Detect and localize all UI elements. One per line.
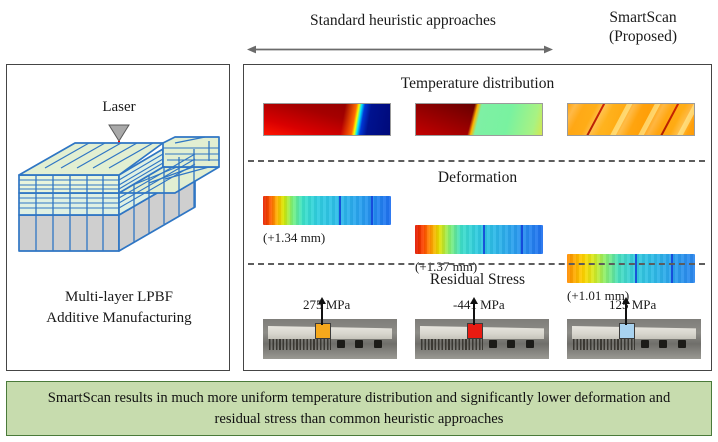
specimen-hole bbox=[659, 340, 667, 348]
summary-caption-box: SmartScan results in much more uniform t… bbox=[6, 381, 712, 436]
specimen-support-teeth bbox=[573, 339, 635, 350]
lpbf-caption-line2: Additive Manufacturing bbox=[7, 308, 231, 329]
temperature-field-image-1 bbox=[263, 103, 391, 136]
header-smartscan-label: SmartScan (Proposed) bbox=[572, 8, 714, 46]
temperature-cell-smartscan bbox=[567, 103, 695, 136]
figure-header: Standard heuristic approaches SmartScan … bbox=[0, 0, 718, 58]
header-smartscan-line1: SmartScan bbox=[572, 8, 714, 27]
deformation-seam-line bbox=[371, 196, 373, 225]
residual-stress-value-3: 125 MPa bbox=[609, 297, 656, 313]
specimen-photo-2 bbox=[415, 319, 549, 359]
residual-stress-value-2: -441 MPa bbox=[453, 297, 505, 313]
specimen-photo-wrap-2: -441 MPa bbox=[415, 297, 549, 359]
double-headed-arrow-icon bbox=[247, 44, 553, 55]
scan-streak bbox=[580, 103, 611, 136]
temperature-row-title-wrap: Temperature distribution bbox=[244, 75, 711, 93]
residual-stress-row-strips: 275 MPa -441 MPa bbox=[244, 297, 711, 367]
specimen-support-teeth bbox=[421, 339, 483, 350]
header-smartscan-line2: (Proposed) bbox=[572, 27, 714, 46]
specimen-photo-wrap-1: 275 MPa bbox=[263, 297, 397, 359]
temperature-row-title: Temperature distribution bbox=[244, 75, 711, 93]
deformation-seam-line bbox=[483, 225, 485, 254]
specimen-hole bbox=[337, 340, 345, 348]
temperature-cell-heuristic-1 bbox=[263, 103, 391, 136]
residual-stress-row-title: Residual Stress bbox=[244, 271, 711, 289]
stress-indicator-square-1 bbox=[315, 323, 331, 339]
scan-streak-light bbox=[604, 103, 638, 136]
scan-streak-light bbox=[632, 103, 666, 136]
specimen-photo-wrap-3: 125 MPa bbox=[567, 297, 701, 359]
temperature-row-strips bbox=[244, 103, 711, 163]
row-divider-1 bbox=[248, 160, 705, 162]
stress-arrow-icon-2 bbox=[473, 303, 475, 325]
residual-stress-value-1: 275 MPa bbox=[303, 297, 350, 313]
stress-indicator-square-2 bbox=[467, 323, 483, 339]
deformation-row-title-wrap: Deformation bbox=[244, 169, 711, 187]
temperature-cell-heuristic-2 bbox=[415, 103, 543, 136]
specimen-hole bbox=[489, 340, 497, 348]
specimen-hole bbox=[355, 340, 363, 348]
specimen-hole bbox=[641, 340, 649, 348]
deformation-seam-line bbox=[339, 196, 341, 225]
residual-stress-row-title-wrap: Residual Stress bbox=[244, 271, 711, 289]
summary-caption-text: SmartScan results in much more uniform t… bbox=[23, 388, 695, 430]
results-comparison-panel: Temperature distribution Deformation bbox=[243, 64, 712, 371]
deformation-cell-heuristic-1: (+1.34 mm) bbox=[263, 196, 718, 225]
specimen-hole bbox=[526, 340, 534, 348]
residual-stress-cell-smartscan: 125 MPa bbox=[567, 297, 701, 359]
header-standard-heuristic-label: Standard heuristic approaches bbox=[243, 11, 563, 30]
row-divider-2 bbox=[248, 263, 705, 265]
residual-stress-cell-heuristic-2: -441 MPa bbox=[415, 297, 549, 359]
deformation-field-image-2 bbox=[415, 225, 543, 254]
multi-layer-block-diagram bbox=[15, 123, 223, 283]
stress-arrow-icon-1 bbox=[321, 303, 323, 325]
lpbf-caption-line1: Multi-layer LPBF bbox=[7, 287, 231, 308]
deformation-seam-line bbox=[521, 225, 523, 254]
specimen-hole bbox=[678, 340, 686, 348]
specimen-support-teeth bbox=[269, 339, 331, 350]
deformation-row-strips: (+1.34 mm) (+1.37 mm) (+1.01 mm) bbox=[244, 196, 711, 256]
stress-indicator-square-3 bbox=[619, 323, 635, 339]
deformation-value-1: (+1.34 mm) bbox=[263, 230, 325, 246]
temperature-field-image-2 bbox=[415, 103, 543, 136]
deformation-row-title: Deformation bbox=[244, 169, 711, 187]
specimen-photo-1 bbox=[263, 319, 397, 359]
stress-arrow-icon-3 bbox=[625, 303, 627, 325]
deformation-field-image-1 bbox=[263, 196, 391, 225]
laser-label: Laser bbox=[7, 99, 231, 116]
specimen-hole bbox=[374, 340, 382, 348]
deformation-cell-heuristic-2: (+1.37 mm) bbox=[415, 225, 718, 254]
residual-stress-cell-heuristic-1: 275 MPa bbox=[263, 297, 397, 359]
temperature-field-image-3 bbox=[567, 103, 695, 136]
specimen-photo-3 bbox=[567, 319, 701, 359]
specimen-hole bbox=[507, 340, 515, 348]
lpbf-panel-caption: Multi-layer LPBF Additive Manufacturing bbox=[7, 287, 231, 329]
lpbf-process-panel: Laser bbox=[6, 64, 230, 371]
